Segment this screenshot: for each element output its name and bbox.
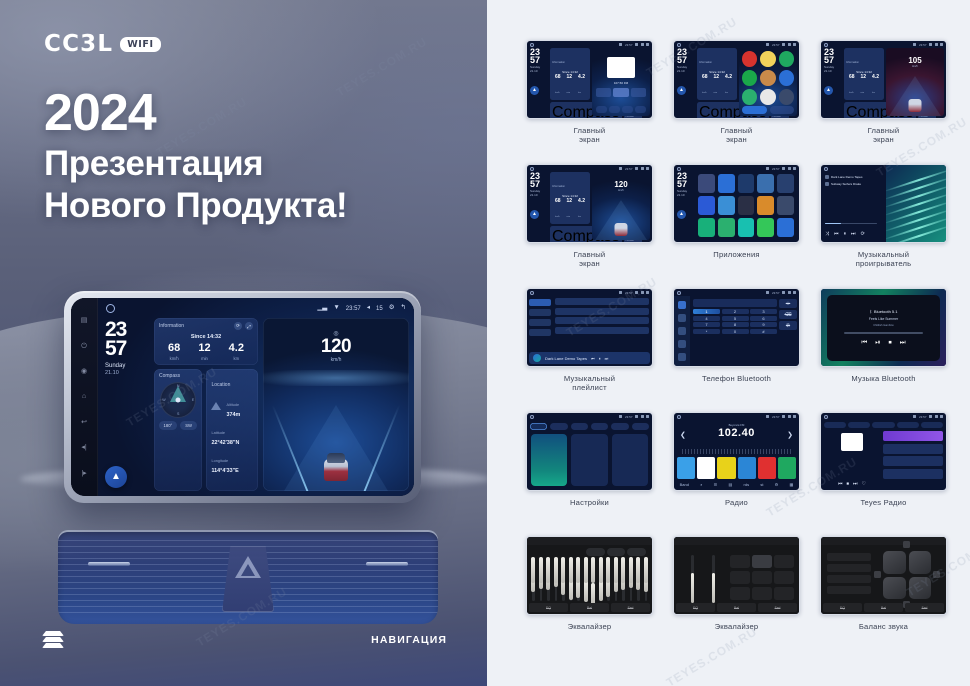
call-log-icon[interactable] (678, 340, 686, 348)
prev-button[interactable]: ⏮ (861, 339, 867, 347)
list-icon[interactable]: ☰ (714, 482, 718, 487)
shortcut-3[interactable] (622, 106, 633, 113)
thumb-status-bar (821, 537, 946, 545)
pause-button[interactable]: ⏸ (844, 231, 847, 237)
thumb-clock-date: Sunday21.10 (824, 66, 842, 74)
screenshot-thumbnail[interactable]: 23:57 Dark Lane Demo Tapes Subway Surfer… (820, 164, 947, 243)
screenshot-thumbnail[interactable]: EQ Bal Fad (673, 536, 800, 615)
speed-unit: km/h (263, 357, 409, 363)
home-circle-icon[interactable] (824, 167, 828, 171)
eq-band-14[interactable] (630, 557, 633, 601)
preset-9[interactable] (774, 587, 794, 600)
speed-value: 105 (886, 56, 944, 65)
speaker-pad[interactable] (883, 551, 931, 599)
thumbnail-caption: Teyes Радио (860, 498, 906, 507)
location-latitude-value: 22°42'38"N (211, 440, 253, 446)
key-2[interactable]: 2 (722, 309, 749, 314)
signal-icon (766, 43, 769, 46)
equalizer-simple-screen: EQ Bal Fad (674, 537, 799, 614)
volume-icon (782, 43, 785, 46)
preset-reset[interactable] (586, 548, 605, 556)
tab-display[interactable] (550, 423, 567, 430)
balance-left-button[interactable] (874, 571, 881, 578)
metric-speed: 68km/h (849, 75, 855, 98)
next-button[interactable]: ⏭ (853, 481, 858, 487)
information-card-header: Information ⟳ ⤢ (159, 322, 253, 330)
app-icon-1[interactable] (742, 51, 757, 67)
prev-button[interactable]: ⏮ (591, 356, 595, 361)
list-item[interactable] (555, 317, 649, 324)
tab-history[interactable] (921, 422, 943, 428)
app-icon-3[interactable] (738, 174, 755, 193)
compass-heading: 180° (159, 421, 177, 430)
tab-genres[interactable] (848, 422, 870, 428)
back-icon (940, 415, 943, 418)
thumb-status-bar: 23:57 (527, 41, 652, 48)
home-circle-icon[interactable] (677, 167, 681, 171)
settings-icon[interactable] (678, 353, 686, 361)
home-circle-icon[interactable] (530, 415, 534, 419)
prev-button[interactable]: ⏮ (838, 481, 843, 487)
app-icon-4[interactable] (757, 174, 774, 193)
app-icon-13[interactable] (738, 218, 755, 237)
screenshot-thumbnail[interactable]: 23:57 Dark Lane Demo Tapes ⏮ ⏸ ⏭ (526, 288, 653, 367)
list-item[interactable] (883, 469, 943, 479)
app-icon-5[interactable] (760, 70, 775, 86)
hazard-triangle-icon[interactable] (235, 556, 261, 578)
dock-item-1[interactable] (742, 106, 767, 114)
key-1[interactable]: 1 (693, 309, 720, 314)
tab-fader[interactable]: Fad (758, 603, 797, 612)
app-icon-1[interactable] (698, 174, 715, 193)
pause-button[interactable]: ⏸ (599, 356, 601, 361)
track-rows (555, 298, 649, 336)
tab-balance[interactable]: Bal (864, 603, 903, 612)
key-0[interactable]: 0 (722, 329, 749, 334)
home-circle-icon[interactable] (824, 43, 828, 47)
play-pause-button[interactable]: ⏯ (875, 339, 880, 347)
head-unit-side-buttons[interactable]: ▤ ⏻ ◉ ⌂ ↩ ◂| |▸ (71, 298, 98, 496)
home-circle-icon[interactable] (824, 415, 828, 419)
album-art (607, 57, 635, 78)
shortcut-2[interactable] (609, 106, 620, 113)
volume-icon (782, 167, 785, 170)
signal-icon (766, 291, 769, 294)
speaker-rear-left[interactable] (883, 577, 906, 600)
signal-icon (913, 43, 916, 46)
wifi-card[interactable] (531, 434, 567, 486)
information-card[interactable]: Information Since 14:32 68km/h 12min 4.2… (550, 48, 590, 100)
tab-balance[interactable]: Bal (570, 603, 609, 612)
preset-1[interactable] (730, 555, 750, 568)
signal-icon: ▁▃ (317, 305, 327, 312)
preset-save[interactable] (607, 548, 626, 556)
app-icon-3[interactable] (779, 51, 794, 67)
screenshot-thumbnail[interactable]: 23:57 123456789*0# ☆ ⌫ ✆ (673, 288, 800, 367)
next-station-button[interactable]: ❯ (787, 431, 793, 439)
app-icon-7[interactable] (718, 196, 735, 215)
status-icons: 23:57 (619, 415, 649, 419)
list-item[interactable] (883, 431, 943, 441)
next-button[interactable]: ⏭ (605, 356, 609, 361)
eq-band-10[interactable] (600, 557, 603, 601)
thumb-clock: 23 57 Sunday21.10 ▲ (676, 48, 695, 116)
tab-wifi[interactable] (530, 423, 547, 430)
back-icon[interactable]: ↩ (79, 418, 90, 427)
preset-2[interactable] (697, 457, 715, 479)
media-widget[interactable]: 107.50 FM (592, 48, 650, 116)
tab-countries[interactable] (872, 422, 894, 428)
metric-distance: 4.2km (872, 75, 879, 98)
wifi-icon: ▼ (333, 305, 339, 312)
bluetooth-icon: ᛒ (870, 309, 872, 314)
navigation-fab-button[interactable]: ▲ (530, 86, 539, 95)
mute-icon[interactable]: ◉ (79, 367, 90, 376)
menu-icon[interactable]: ▤ (79, 316, 90, 325)
app-icon-5[interactable] (777, 174, 794, 193)
app-icon-8[interactable] (738, 196, 755, 215)
preset-7[interactable] (730, 587, 750, 600)
search-icon[interactable] (678, 327, 686, 335)
gallery-cell: EQ Bal FadЭквалайзер (517, 536, 662, 658)
backspace-icon[interactable]: ⌫ (779, 310, 797, 319)
app-icon-6[interactable] (779, 70, 794, 86)
search-icon[interactable]: ⌕ (700, 482, 702, 487)
vent-slit-right (366, 562, 408, 566)
contacts-icon[interactable] (678, 314, 686, 322)
app-icon-9[interactable] (757, 196, 774, 215)
vol-up-icon[interactable]: |▸ (79, 469, 90, 478)
home-circle-icon[interactable] (677, 415, 681, 419)
list-item[interactable]: Subway Surfers Drake (825, 182, 882, 186)
compass-card[interactable]: Compass N E S W (154, 369, 202, 491)
gallery-cell: 23:57 23 57 Sunday21.10 ▲ Information Si… (664, 40, 809, 162)
preset-load[interactable] (627, 548, 646, 556)
category-tracks[interactable] (529, 299, 551, 306)
preset-1[interactable] (677, 457, 695, 479)
metric-distance-value: 4.2 (229, 343, 244, 354)
home-circle-icon[interactable] (106, 304, 115, 313)
screenshot-thumbnail[interactable]: 23:57 Beyoncé FM 102.40 ❮ ❯ Band ⌕ ☰ ▤ r… (673, 412, 800, 491)
dock-item-2[interactable] (770, 106, 795, 114)
information-title: Information (699, 61, 712, 64)
thumbnail-caption: Телефон Bluetooth (702, 374, 771, 383)
screenshot-thumbnail[interactable]: 23:57 ᛒ Bluetooth 5.1 Feels Like Summer … (820, 288, 947, 367)
eq-band-6[interactable] (570, 557, 573, 601)
list-item[interactable] (555, 308, 649, 315)
screenshot-thumbnail[interactable]: 23:57 23 57 Sunday21.10 ▲ Information Si… (673, 40, 800, 119)
tab-eq[interactable]: EQ (676, 603, 715, 612)
next-button[interactable] (631, 88, 646, 97)
eq-band-9[interactable] (592, 557, 595, 601)
navigation-fab-button[interactable]: ▲ (677, 86, 686, 95)
gallery-cell: EQ Bal FadБаланс звука (811, 536, 956, 658)
dialpad: 123456789*0# (693, 309, 777, 334)
gallery-cell: 23:57 ᛒ Bluetooth 5.1 Feels Like Summer … (811, 288, 956, 410)
list-item[interactable] (555, 298, 649, 305)
key-#[interactable]: # (750, 329, 777, 334)
favorite-icon[interactable]: ♡ (862, 481, 866, 487)
gear-icon (788, 43, 791, 46)
home-circle-icon[interactable] (677, 291, 681, 295)
volume-icon[interactable]: ◂ (367, 305, 370, 312)
eq-icon[interactable]: ▤ (729, 482, 733, 487)
eq-band-11[interactable] (607, 557, 610, 601)
screenshot-thumbnail[interactable]: EQ Bal Fad (526, 536, 653, 615)
app-icon-10[interactable] (777, 196, 794, 215)
gear-icon (935, 43, 938, 46)
thumbnail-caption: Главный экран (721, 126, 753, 144)
eq-band-8[interactable] (585, 557, 588, 601)
app-icon-12[interactable] (718, 218, 735, 237)
gallery-cell: 23:57 ⏮ ⏹ ⏭ ♡ (811, 412, 956, 534)
gear-icon (935, 415, 938, 418)
eq-band-3[interactable] (547, 557, 550, 601)
app-icon-2[interactable] (760, 51, 775, 67)
eq-footer-tabs: EQ Bal Fad (529, 603, 650, 612)
balance-right-button[interactable] (933, 571, 940, 578)
information-title: Information (552, 185, 565, 188)
bass-slider[interactable] (691, 555, 694, 600)
list-item[interactable] (555, 327, 649, 334)
key-6[interactable]: 6 (750, 316, 777, 321)
app-icon-15[interactable] (777, 218, 794, 237)
status-icons: 23:57 (766, 415, 796, 419)
information-title: Information (846, 61, 859, 64)
prev-button[interactable] (596, 88, 611, 97)
layers-icon[interactable] (42, 631, 64, 648)
tab-system[interactable] (632, 423, 649, 430)
refresh-icon[interactable]: ⟳ (234, 322, 242, 330)
repeat-icon[interactable]: ⟳ (861, 231, 865, 237)
eq-band-1[interactable] (532, 557, 535, 601)
tab-fader[interactable]: Fad (611, 603, 650, 612)
app-icon-14[interactable] (757, 218, 774, 237)
app-shortcuts-widget[interactable] (739, 48, 797, 116)
preset-8[interactable] (752, 587, 772, 600)
dialpad-icon[interactable] (678, 301, 686, 309)
screenshot-thumbnail[interactable]: 23:57 23 57 Sunday21.10 ▲ Information Si… (526, 40, 653, 119)
eq-band-15[interactable] (637, 557, 640, 601)
tab-about[interactable] (611, 423, 628, 430)
key-5[interactable]: 5 (722, 316, 749, 321)
rds-icon[interactable]: rds (744, 482, 750, 487)
app-icon-6[interactable] (698, 196, 715, 215)
prev-button[interactable]: ⏮ (834, 231, 839, 237)
home-circle-icon[interactable] (530, 167, 534, 171)
eq-band-16[interactable] (645, 557, 648, 601)
bt-track-title: Feels Like Summer (869, 317, 898, 321)
prev-station-button[interactable]: ❮ (680, 431, 686, 439)
screenshot-thumbnail[interactable]: 23:57 23 57 Sunday21.10 ▲ (673, 164, 800, 243)
tab-fader[interactable]: Fad (905, 603, 944, 612)
app-icon-8[interactable] (760, 89, 775, 105)
information-card[interactable]: Information Since 14:32 68km/h 12min 4.2… (697, 48, 737, 100)
key-9[interactable]: 9 (750, 322, 777, 327)
radio-presets (677, 457, 796, 479)
screenshot-gallery-panel: 23:57 23 57 Sunday21.10 ▲ Information Si… (487, 0, 970, 686)
preset-5[interactable] (752, 571, 772, 584)
eq-band-13[interactable] (622, 557, 625, 601)
tab-balance[interactable]: Bal (717, 603, 756, 612)
tab-sound[interactable] (571, 423, 588, 430)
gallery-cell: 23:57 Dark Lane Demo Tapes ⏮ ⏸ ⏭ (517, 288, 662, 410)
status-bar-left (106, 304, 115, 313)
power-icon[interactable]: ⏻ (79, 342, 90, 351)
navigation-fab-button[interactable]: ▲ (824, 86, 833, 95)
key-3[interactable]: 3 (750, 309, 777, 314)
home-circle-icon[interactable] (530, 43, 534, 47)
screenshot-grid: 23:57 23 57 Sunday21.10 ▲ Information Si… (487, 0, 970, 686)
app-icon-4[interactable] (742, 70, 757, 86)
information-card[interactable]: Information ⟳ ⤢ Since 14:32 68 (154, 318, 258, 365)
metric-speed-unit: km/h (168, 356, 180, 361)
tab-all[interactable] (824, 422, 846, 428)
preset-4[interactable] (730, 571, 750, 584)
compass-title: Compass (159, 373, 197, 379)
preset-6[interactable] (774, 571, 794, 584)
eq-band-12[interactable] (615, 557, 618, 601)
metric-speed: 68km/h (555, 199, 561, 222)
eq-band-7[interactable] (577, 557, 580, 601)
horizon-glow (263, 370, 409, 386)
screenshot-thumbnail[interactable]: 23:57 (526, 412, 653, 491)
thumb-lower-widgets: Compass Location 374m 22°42'38"N 114°4'3… (697, 102, 737, 119)
next-button[interactable]: ⏭ (851, 231, 856, 237)
band-button[interactable]: Band (680, 482, 689, 487)
navigation-arrow-icon: ▲ (111, 472, 121, 482)
home-circle-icon[interactable] (677, 43, 681, 47)
shortcut-1[interactable] (596, 106, 607, 113)
eq-band-2[interactable] (540, 557, 543, 601)
call-button[interactable]: ✆ (779, 321, 797, 330)
home-icon[interactable]: ⌂ (79, 392, 90, 401)
back-icon (793, 167, 796, 170)
metric-speed: 68 km/h (168, 343, 180, 361)
key-*[interactable]: * (693, 329, 720, 334)
shuffle-icon[interactable]: ⤨ (825, 231, 829, 237)
dial-input[interactable] (693, 299, 777, 307)
app-icon-7[interactable] (742, 89, 757, 105)
favorite-icon[interactable]: ☆ (779, 299, 797, 308)
tab-general[interactable] (591, 423, 608, 430)
app-grid (742, 51, 794, 105)
settings-tabs (530, 423, 649, 430)
status-bar-right: ▁▃ ▼ 23:57 ◂ 15 ⚙ ↰ (317, 305, 406, 312)
app-icon-9[interactable] (779, 89, 794, 105)
tab-eq[interactable]: EQ (529, 603, 568, 612)
speaker-rear-right[interactable] (909, 577, 932, 600)
speaker-front-left[interactable] (883, 551, 906, 574)
driving-view-widget[interactable]: 105 km/h (886, 48, 944, 116)
key-4[interactable]: 4 (693, 316, 720, 321)
settings-icon[interactable]: ⚙ (775, 482, 779, 487)
screenshot-thumbnail[interactable]: 23:57 ⏮ ⏹ ⏭ ♡ (820, 412, 947, 491)
preset-4[interactable] (738, 457, 756, 479)
progress-bar[interactable] (825, 223, 877, 225)
frequency-scale[interactable] (682, 449, 791, 454)
category-artists[interactable] (529, 309, 551, 316)
screenshot-thumbnail[interactable]: 23:57 23 57 Sunday21.10 ▲ Information Si… (526, 164, 653, 243)
stop-button[interactable]: ⏹ (847, 481, 850, 487)
preset-5[interactable] (758, 457, 776, 479)
gear-icon (641, 167, 644, 170)
location-card[interactable]: Location Altitude 374m (206, 369, 258, 491)
key-7[interactable]: 7 (693, 322, 720, 327)
carplay-card[interactable] (571, 434, 607, 486)
speaker-front-right[interactable] (909, 551, 932, 574)
list-item[interactable] (883, 456, 943, 466)
key-8[interactable]: 8 (722, 322, 749, 327)
eq-footer-tabs: EQ Bal Fad (676, 603, 797, 612)
thumb-status-bar: 23:57 (527, 165, 652, 172)
status-time: 23:57 (919, 415, 927, 419)
driving-view-widget[interactable]: ◎ 120 km/h (263, 318, 409, 491)
app-icon-11[interactable] (698, 218, 715, 237)
category-folders[interactable] (529, 329, 551, 336)
thumbnail-caption: Музыкальный плейлист (564, 374, 615, 392)
screenshot-thumbnail[interactable]: 23:57 23 57 Sunday21.10 ▲ Information Si… (820, 40, 947, 119)
play-button[interactable] (613, 88, 628, 97)
next-button[interactable]: ⏭ (900, 339, 906, 347)
expand-icon[interactable]: ⤢ (245, 322, 253, 330)
preset-2[interactable] (752, 555, 772, 568)
location-altitude-row: Altitude 374m (211, 393, 253, 418)
speed-value: 120 (592, 180, 650, 189)
information-card[interactable]: Information Since 14:32 68km/h 12min 4.2… (550, 172, 590, 224)
balance-up-button[interactable] (903, 541, 910, 548)
location-title: Location (211, 382, 230, 388)
list-item[interactable] (883, 444, 943, 454)
information-card[interactable]: Information Since 14:32 68km/h 12min 4.2… (844, 48, 884, 100)
eq-band-5[interactable] (562, 557, 565, 601)
navigation-fab-button[interactable]: ▲ (530, 210, 539, 219)
treble-slider[interactable] (712, 555, 715, 600)
vol-down-icon[interactable]: ◂| (79, 443, 90, 452)
home-circle-icon[interactable] (530, 291, 534, 295)
clock-minutes: 57 (105, 339, 149, 359)
mini-player[interactable]: Dark Lane Demo Tapes ⏮ ⏸ ⏭ (529, 352, 650, 364)
thumb-status-bar: 23:57 (674, 413, 799, 420)
apps-icon[interactable]: ▦ (790, 482, 794, 487)
list-item[interactable]: Dark Lane Demo Tapes (825, 175, 882, 179)
navigation-fab-button[interactable]: ▲ (105, 466, 127, 488)
st-icon[interactable]: st (760, 482, 763, 487)
more-card[interactable] (612, 434, 648, 486)
status-time: 23:57 (625, 415, 633, 419)
navigation-fab-button[interactable]: ▲ (677, 210, 686, 219)
stop-button[interactable]: ⏹ (888, 339, 891, 347)
metric-time: 12min (861, 75, 867, 98)
signal-icon (913, 415, 916, 418)
signal-icon (619, 415, 622, 418)
screenshot-thumbnail[interactable]: EQ Bal Fad (820, 536, 947, 615)
tab-favorites[interactable] (897, 422, 919, 428)
progress-bar[interactable] (844, 332, 923, 333)
preset-3[interactable] (717, 457, 735, 479)
preset-3[interactable] (774, 555, 794, 568)
app-icon-2[interactable] (718, 174, 735, 193)
shortcut-4[interactable] (635, 106, 646, 113)
back-icon[interactable]: ↰ (401, 305, 406, 312)
gear-icon[interactable]: ⚙ (389, 305, 395, 312)
driving-view-widget[interactable]: 120 km/h (592, 172, 650, 240)
tab-eq[interactable]: EQ (823, 603, 862, 612)
eq-band-4[interactable] (555, 557, 558, 601)
category-albums[interactable] (529, 319, 551, 326)
head-unit-screen[interactable]: ▁▃ ▼ 23:57 ◂ 15 ⚙ ↰ 23 (98, 298, 414, 496)
preset-6[interactable] (778, 457, 796, 479)
